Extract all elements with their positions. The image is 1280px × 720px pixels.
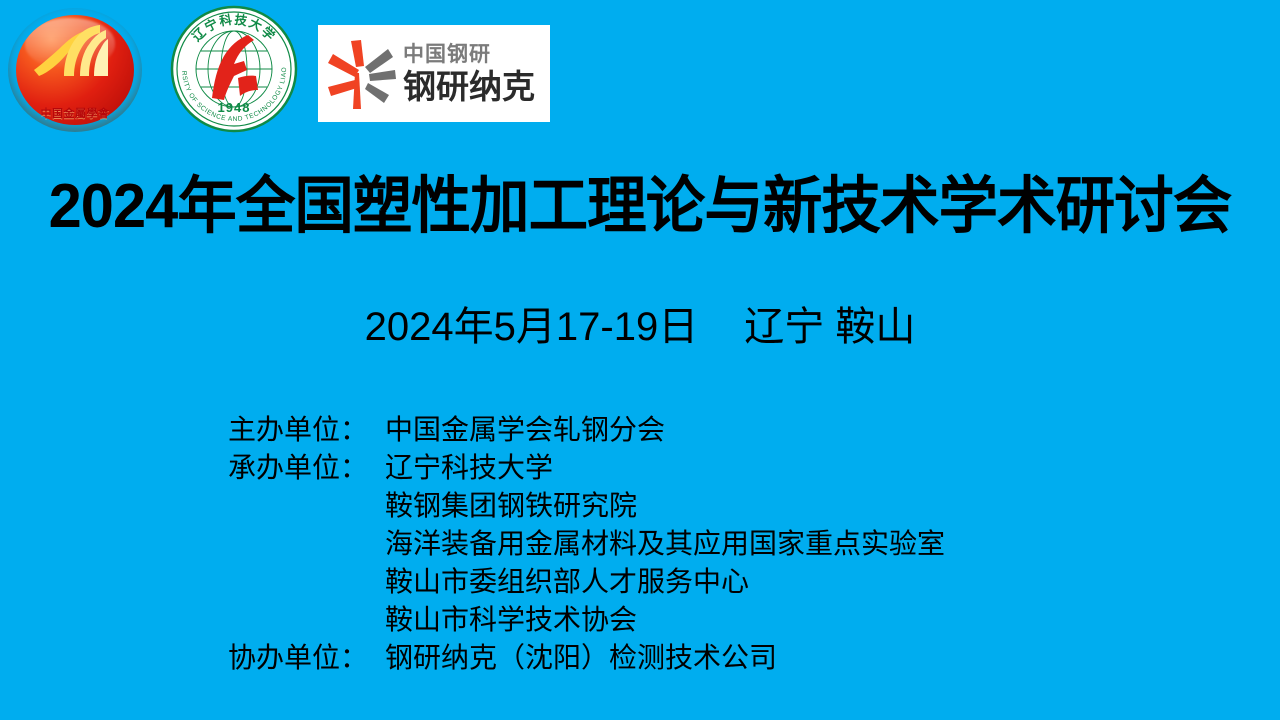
organizer-row: 鞍山市委组织部人才服务中心 xyxy=(228,563,1228,601)
csm-logo-text: 中国金屬學會 xyxy=(8,109,142,120)
organizer-value: 鞍钢集团钢铁研究院 xyxy=(385,487,637,525)
organizer-value: 鞍山市委组织部人才服务中心 xyxy=(385,563,749,601)
organizers-block: 主办单位： 中国金属学会轧钢分会 承办单位： 辽宁科技大学 鞍钢集团钢铁研究院 … xyxy=(228,411,1228,677)
date-location-line: 2024年5月17-19日辽宁 鞍山 xyxy=(0,305,1280,349)
organizer-label: 承办单位： xyxy=(228,449,385,487)
organizer-value: 鞍山市科学技术协会 xyxy=(385,601,637,639)
chinese-society-for-metals-logo: 中国金屬學會 xyxy=(8,8,142,132)
csm-wave-mark-icon xyxy=(32,24,108,80)
ncs-testing-logo: 中国钢研 钢研纳克 xyxy=(318,25,550,122)
logo-row: 中国金屬學會 1948 辽宁科技大学 xyxy=(0,0,1280,135)
ustl-logo: 1948 辽宁科技大学 UNIVERSITY OF SCIENCE AND TE… xyxy=(168,4,300,134)
organizer-row: 承办单位： 辽宁科技大学 xyxy=(228,449,1228,487)
organizer-value: 海洋装备用金属材料及其应用国家重点实验室 xyxy=(385,525,945,563)
organizer-value: 辽宁科技大学 xyxy=(385,449,553,487)
conference-date: 2024年5月17-19日 xyxy=(365,305,699,349)
ncs-wordmark: 中国钢研 钢研纳克 xyxy=(403,44,535,103)
organizer-row: 鞍钢集团钢铁研究院 xyxy=(228,487,1228,525)
organizer-row: 海洋装备用金属材料及其应用国家重点实验室 xyxy=(228,525,1228,563)
conference-title: 2024年全国塑性加工理论与新技术学术研讨会 xyxy=(26,174,1255,239)
ncs-top-text: 中国钢研 xyxy=(403,44,535,65)
organizer-label: 协办单位： xyxy=(228,639,385,677)
ncs-bottom-text: 钢研纳克 xyxy=(403,70,535,103)
organizer-row: 协办单位： 钢研纳克（沈阳）检测技术公司 xyxy=(228,639,1228,677)
organizer-value: 中国金属学会轧钢分会 xyxy=(385,411,665,449)
organizer-label: 主办单位： xyxy=(228,411,385,449)
organizer-value: 钢研纳克（沈阳）检测技术公司 xyxy=(385,639,777,677)
ustl-year: 1948 xyxy=(218,100,251,115)
organizer-row: 主办单位： 中国金属学会轧钢分会 xyxy=(228,411,1228,449)
conference-location: 辽宁 鞍山 xyxy=(744,305,915,349)
organizer-row: 鞍山市科学技术协会 xyxy=(228,601,1228,639)
ncs-star-mark-icon xyxy=(325,37,399,111)
conference-poster-slide: 中国金屬學會 1948 辽宁科技大学 xyxy=(0,0,1280,720)
